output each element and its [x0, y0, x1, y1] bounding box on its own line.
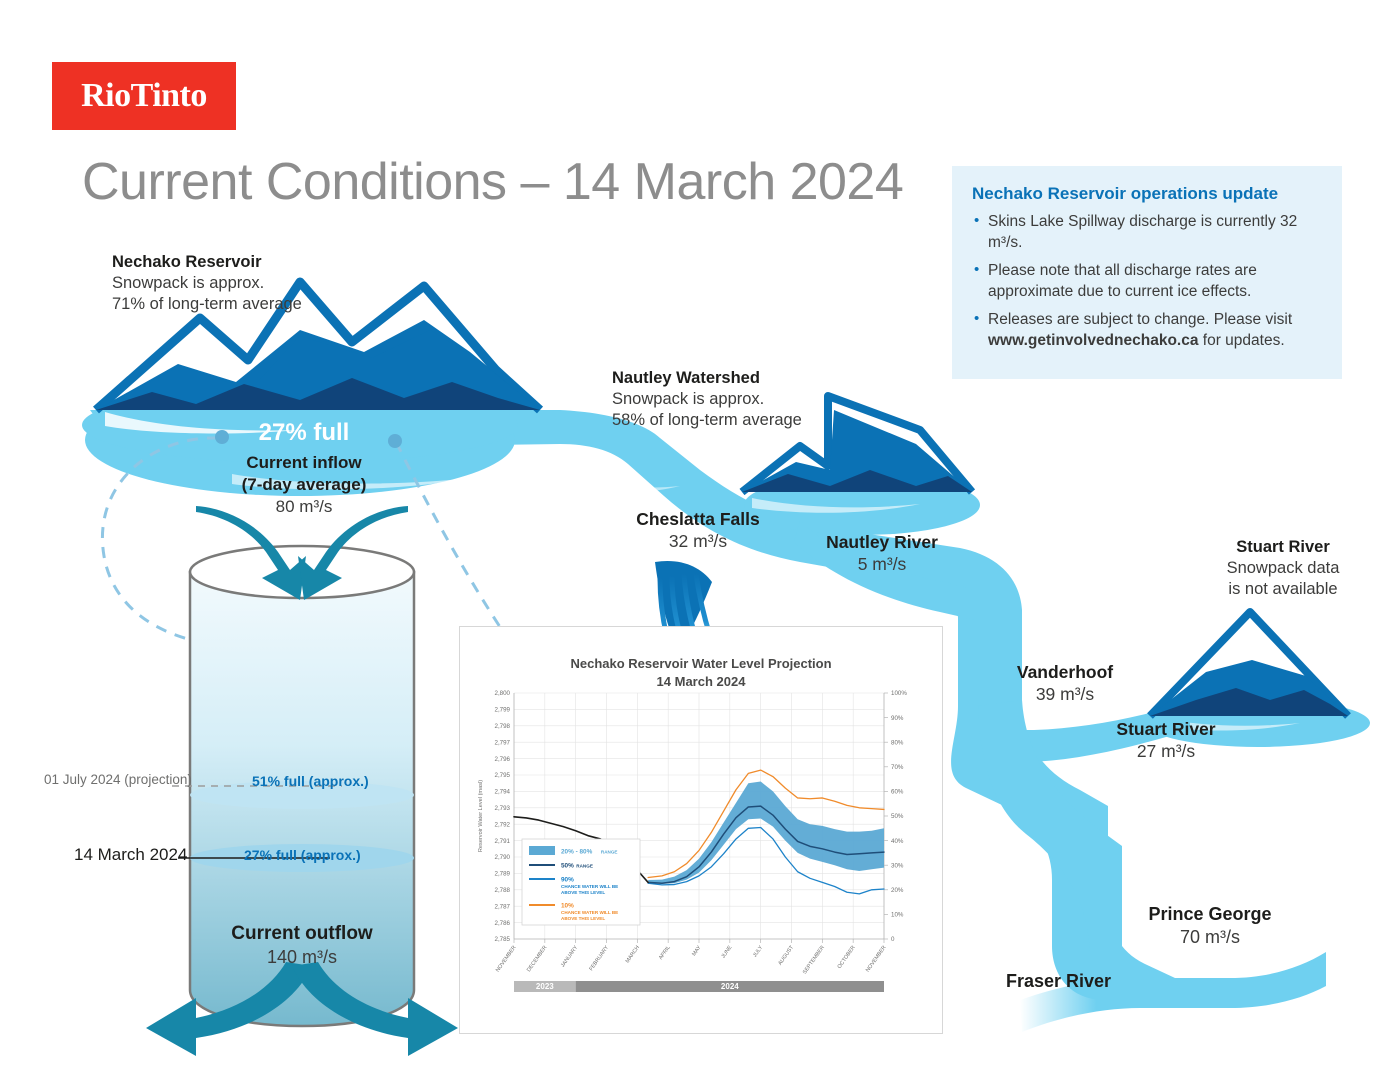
ops-bullet-1: Skins Lake Spillway discharge is current… [972, 212, 1322, 254]
y-tick-2,800: 2,800 [495, 690, 511, 697]
y2-tick-40%: 40% [891, 838, 904, 845]
stuart-watershed-title: Stuart River [1178, 537, 1388, 558]
tank-march-date: 14 March 2024 [74, 845, 187, 865]
legend-suffix-3-1: ABOVE THIS LEVEL [561, 916, 605, 921]
node-fraser-river: Fraser River [1006, 970, 1111, 993]
water-level-projection-chart[interactable]: Nechako Reservoir Water Level Projection… [459, 626, 943, 1034]
y-tick-2,794: 2,794 [495, 789, 511, 796]
nautley-snowpack-line2: 58% of long-term average [612, 410, 802, 431]
legend-suffix-2-0: CHANCE WATER WILL BE [561, 884, 618, 889]
prince-george-name: Prince George [1104, 903, 1316, 926]
y2-tick-90%: 90% [891, 715, 904, 722]
node-cheslatta-falls: Cheslatta Falls 32 m³/s [608, 508, 788, 553]
nautley-watershed-label: Nautley Watershed Snowpack is approx. 58… [612, 368, 802, 431]
nechako-snowpack-line1: Snowpack is approx. [112, 273, 302, 294]
y2-tick-0: 0 [891, 936, 895, 943]
prince-george-value: 70 m³/s [1104, 926, 1316, 949]
x-tick-october-11: OCTOBER [837, 945, 857, 970]
legend-swatch-0 [529, 846, 555, 855]
ops-bullet-3: Releases are subject to change. Please v… [972, 310, 1322, 352]
y2-tick-20%: 20% [891, 887, 904, 894]
x-tick-november-0: NOVEMBER [495, 945, 518, 974]
node-stuart-river: Stuart River 27 m³/s [1076, 718, 1256, 763]
y-tick-2,792: 2,792 [495, 821, 511, 828]
stuart-mountain-icon [1150, 612, 1348, 716]
x-tick-january-2: JANUARY [560, 944, 580, 968]
node-vanderhoof: Vanderhoof 39 m³/s [980, 661, 1150, 706]
operations-update-box: Nechako Reservoir operations update Skin… [952, 166, 1342, 379]
y-tick-2,790: 2,790 [495, 854, 511, 861]
nechako-snowpack-line2: 71% of long-term average [112, 294, 302, 315]
year-band-label-2024: 2024 [721, 982, 739, 991]
node-prince-george: Prince George 70 m³/s [1104, 903, 1316, 949]
vanderhoof-value: 39 m³/s [980, 683, 1150, 705]
legend-label-0: 20% - 80% [561, 848, 593, 855]
ops-update-list: Skins Lake Spillway discharge is current… [972, 212, 1322, 352]
nautley-river-value: 5 m³/s [792, 553, 972, 575]
y2-tick-60%: 60% [891, 789, 904, 796]
outflow-title: Current outflow [182, 922, 422, 946]
y-tick-2,798: 2,798 [495, 723, 511, 730]
legend-suffix-3-0: CHANCE WATER WILL BE [561, 910, 618, 915]
x-tick-february-3: FEBRUARY [588, 944, 610, 972]
stuart-snowpack-line2: is not available [1178, 579, 1388, 600]
y2-tick-30%: 30% [891, 862, 904, 869]
y-tick-2,799: 2,799 [495, 707, 511, 714]
x-tick-may-6: MAY [691, 944, 703, 957]
outflow-value: 140 m³/s [182, 946, 422, 969]
y-axis-title: Reservoir Water Level (masl) [478, 780, 484, 852]
inflow-subtitle: (7-day average) [184, 474, 424, 496]
y-tick-2,789: 2,789 [495, 871, 511, 878]
vanderhoof-name: Vanderhoof [980, 661, 1150, 683]
x-tick-july-8: JULY [752, 944, 764, 958]
tank-july-date: 01 July 2024 (projection) [44, 772, 192, 787]
nautley-watershed-title: Nautley Watershed [612, 368, 802, 389]
legend-label-1: 50% [561, 862, 574, 869]
inflow-value: 80 m³/s [184, 496, 424, 518]
stuart-watershed-label: Stuart River Snowpack data is not availa… [1178, 537, 1388, 600]
stuart-river-name: Stuart River [1076, 718, 1256, 740]
nautley-river-name: Nautley River [792, 531, 972, 553]
inflow-title: Current inflow [184, 452, 424, 474]
tank-march-percent: 27% full (approx.) [244, 847, 361, 863]
nechako-website-link[interactable]: www.getinvolvednechako.ca [988, 332, 1198, 349]
legend-suffix-0: RANGE [601, 849, 618, 854]
nechako-reservoir-title: Nechako Reservoir [112, 252, 302, 273]
y-tick-2,797: 2,797 [495, 739, 511, 746]
legend-suffix-2-1: ABOVE THIS LEVEL [561, 890, 605, 895]
x-tick-september-10: SEPTEMBER [802, 945, 826, 976]
year-band-label-2023: 2023 [536, 982, 554, 991]
nechako-reservoir-label: Nechako Reservoir Snowpack is approx. 71… [112, 252, 302, 315]
ops-bullet-3-prefix: Releases are subject to change. Please v… [988, 311, 1292, 328]
stuart-snowpack-line1: Snowpack data [1178, 558, 1388, 579]
y2-tick-50%: 50% [891, 813, 904, 820]
node-nautley-river: Nautley River 5 m³/s [792, 531, 972, 576]
y2-tick-70%: 70% [891, 764, 904, 771]
chart-plot: 2,7852,7862,7872,7882,7892,7902,7912,792… [460, 627, 944, 1035]
cheslatta-falls-name: Cheslatta Falls [608, 508, 788, 530]
legend-label-3: 10% [561, 902, 574, 909]
y-tick-2,787: 2,787 [495, 903, 511, 910]
ops-bullet-3-suffix: for updates. [1198, 332, 1284, 349]
cheslatta-falls-value: 32 m³/s [608, 530, 788, 552]
y-tick-2,793: 2,793 [495, 805, 511, 812]
stuart-river-value: 27 m³/s [1076, 740, 1256, 762]
x-tick-june-7: JUNE [720, 944, 733, 959]
x-tick-november-12: NOVEMBER [865, 945, 888, 974]
y-tick-2,788: 2,788 [495, 887, 511, 894]
y2-tick-10%: 10% [891, 912, 904, 919]
y2-tick-80%: 80% [891, 739, 904, 746]
tank-july-percent: 51% full (approx.) [252, 773, 369, 789]
current-inflow-label: Current inflow (7-day average) 80 m³/s [184, 452, 424, 517]
reservoir-full-percent: 27% full [200, 419, 408, 447]
x-tick-august-9: AUGUST [777, 944, 795, 966]
x-tick-march-4: MARCH [625, 945, 641, 965]
y-tick-2,785: 2,785 [495, 936, 511, 943]
x-tick-december-1: DECEMBER [526, 945, 548, 974]
y-tick-2,791: 2,791 [495, 838, 511, 845]
y-tick-2,786: 2,786 [495, 920, 511, 927]
fraser-river-name: Fraser River [1006, 970, 1111, 993]
ops-bullet-2: Please note that all discharge rates are… [972, 261, 1322, 303]
y-tick-2,796: 2,796 [495, 756, 511, 763]
nautley-snowpack-line1: Snowpack is approx. [612, 389, 802, 410]
ops-update-heading: Nechako Reservoir operations update [972, 184, 1322, 204]
current-outflow-label: Current outflow 140 m³/s [182, 922, 422, 969]
y-tick-2,795: 2,795 [495, 772, 511, 779]
x-tick-april-5: APRIL [658, 945, 672, 961]
legend-label-2: 90% [561, 876, 574, 883]
y2-tick-100%: 100% [891, 690, 907, 697]
legend-suffix-1: RANGE [576, 863, 593, 868]
